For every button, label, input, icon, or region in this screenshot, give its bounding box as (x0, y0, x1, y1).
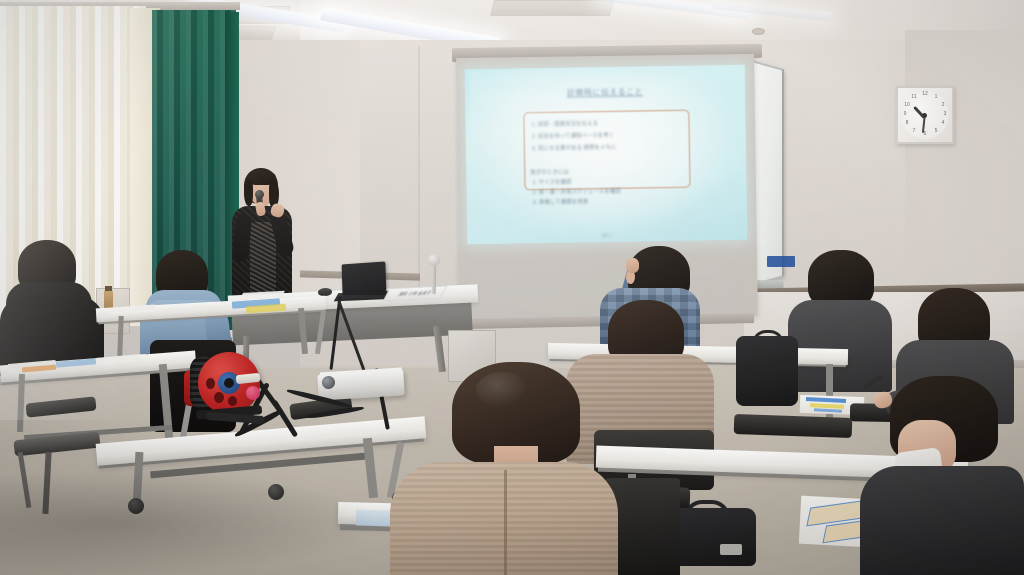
presenter-blouse (250, 222, 276, 292)
clock-center-pin (922, 113, 927, 118)
clock-numeral: 9 (901, 112, 909, 117)
clock-numeral: 11 (910, 95, 918, 100)
cord-reel-hole (214, 392, 224, 403)
slide-bullet: 2. 体・薬・外用スケジュールを確認 (533, 187, 621, 196)
chair-back[interactable] (734, 414, 853, 438)
laptop-screen[interactable] (342, 261, 387, 295)
slide-bullet: 3. 準備して書類を用意 (533, 197, 589, 206)
clock-numeral: 8 (903, 121, 911, 126)
cord-reel-hole (228, 396, 237, 406)
ceiling-vent-icon (490, 0, 614, 16)
bottle-cap (105, 286, 112, 291)
smoke-detector-icon (752, 28, 765, 35)
clock-numeral: 2 (939, 103, 947, 108)
clock-numeral: 12 (921, 92, 929, 97)
cord-reel-knob[interactable] (246, 386, 260, 400)
clock-numeral: 10 (903, 103, 911, 108)
cord-reel-hole (206, 378, 215, 389)
bag-name-tag (720, 544, 742, 555)
floor-shadow (0, 470, 380, 575)
presenter-hair-side (244, 180, 253, 206)
slide-glare (469, 69, 621, 171)
clock-numeral: 3 (941, 112, 949, 117)
tote-bag[interactable] (736, 336, 798, 406)
seminar-room-photo: 12 1 2 3 4 5 6 7 8 9 10 11 診察時に伝えること 1. … (0, 0, 1024, 575)
attendee-hand (626, 258, 639, 273)
desk-microphone-head-icon (428, 254, 440, 266)
whiteboard-label-sticker (767, 256, 795, 267)
name-placard-text: 講師 小林 由美子 (384, 287, 446, 301)
hair-highlight (476, 372, 528, 408)
microphone-head-icon (255, 190, 264, 199)
clock-numeral: 1 (932, 95, 940, 100)
clock-numeral: 7 (910, 129, 918, 134)
slide-bullet: 1. サイズを確認 (532, 178, 571, 187)
wall-seam (418, 46, 420, 296)
clock-numeral: 5 (932, 129, 940, 134)
cord-reel-axle (224, 378, 234, 388)
attendee-jacket (860, 466, 1024, 575)
table-leg (117, 316, 123, 356)
garment-seam (504, 470, 507, 575)
clock-numeral: 4 (939, 121, 947, 126)
